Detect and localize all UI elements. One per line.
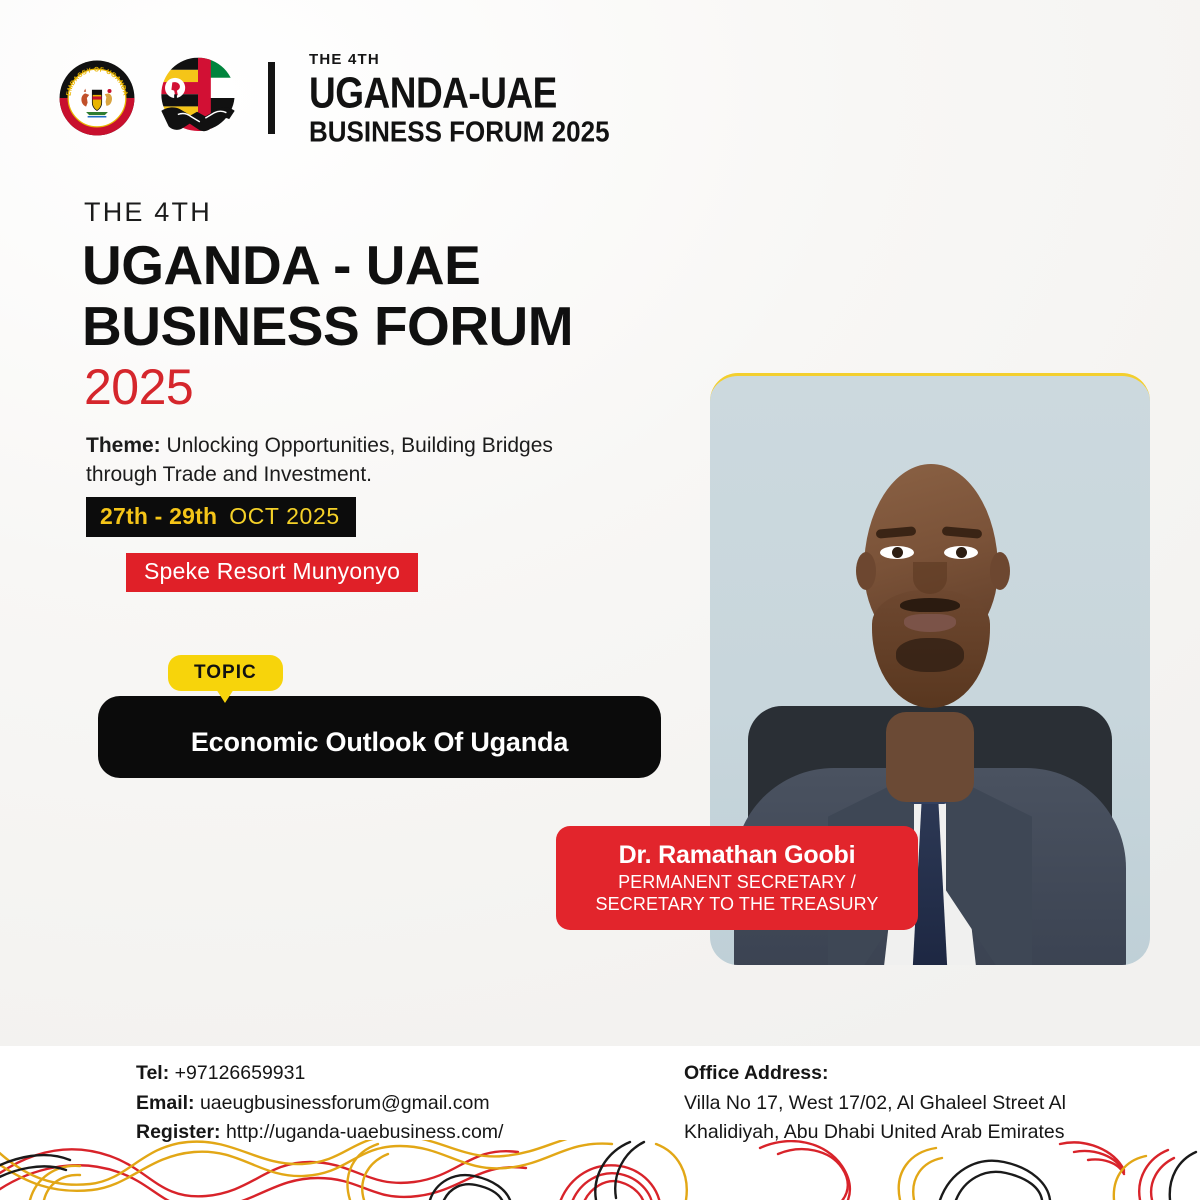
footer-tel-value: +97126659931 (169, 1062, 305, 1084)
date-month: OCT 2025 (229, 503, 340, 529)
portrait-moustache (900, 598, 960, 612)
portrait-ear-left (856, 552, 876, 590)
speaker-nameplate: Dr. Ramathan Goobi PERMANENT SECRETARY /… (556, 826, 918, 930)
footer-address-block: Office Address: Villa No 17, West 17/02,… (684, 1059, 1066, 1148)
speaker-role-line2: SECRETARY TO THE TREASURY (596, 894, 879, 916)
logo-wordmark: THE 4TH UGANDA-UAE BUSINESS FORUM 2025 (309, 52, 610, 143)
theme-text: Theme: Unlocking Opportunities, Building… (86, 432, 556, 490)
logo-the-4th: THE 4TH (309, 52, 610, 67)
hero-eyebrow: THE 4TH (84, 197, 212, 228)
footer-email-value[interactable]: uaeugbusinessforum@gmail.com (195, 1092, 490, 1114)
header-logo-group: EMBASSY OF UGANDA ABU DHABI - UAE (58, 52, 610, 143)
footer-contact-block: Tel: +97126659931 Email: uaeugbusinessfo… (136, 1059, 503, 1148)
logo-uganda-uae: UGANDA-UAE (309, 71, 610, 115)
hero-year: 2025 (84, 358, 193, 416)
date-badge: 27th - 29thOCT 2025 (86, 497, 356, 537)
speaker-name: Dr. Ramathan Goobi (619, 841, 856, 870)
hero-title-line2: BUSINESS FORUM (82, 299, 573, 354)
portrait-chin-beard (896, 638, 964, 672)
portrait-nose (913, 562, 947, 594)
date-range: 27th - 29th (100, 503, 217, 529)
portrait-pupil-left (892, 547, 903, 558)
topic-title: Economic Outlook Of Uganda (191, 717, 568, 758)
poster-canvas: EMBASSY OF UGANDA ABU DHABI - UAE (0, 0, 1200, 1200)
topic-tag-label: TOPIC (168, 655, 283, 691)
footer-address-label: Office Address: (684, 1062, 828, 1084)
logo-divider (268, 62, 275, 134)
footer-address-line1: Villa No 17, West 17/02, Al Ghaleel Stre… (684, 1089, 1066, 1119)
footer-email-label: Email: (136, 1092, 195, 1114)
topographic-contour-pattern (0, 1140, 1200, 1200)
uganda-uae-handshake-icon (152, 54, 244, 142)
theme-label: Theme: (86, 434, 161, 457)
venue-badge: Speke Resort Munyonyo (126, 553, 418, 592)
footer-email-row: Email: uaeugbusinessforum@gmail.com (136, 1089, 503, 1119)
portrait-pupil-right (956, 547, 967, 558)
embassy-of-uganda-seal-icon: EMBASSY OF UGANDA ABU DHABI - UAE (58, 59, 136, 137)
hero-title-line1: UGANDA - UAE (82, 238, 480, 293)
footer-tel-label: Tel: (136, 1062, 169, 1084)
portrait-ear-right (990, 552, 1010, 590)
speaker-role-line1: PERMANENT SECRETARY / (618, 872, 856, 894)
portrait-lips (904, 614, 956, 632)
logo-business-forum: BUSINESS FORUM 2025 (309, 117, 610, 146)
topic-box: Economic Outlook Of Uganda (98, 696, 661, 778)
footer-tel-row: Tel: +97126659931 (136, 1059, 503, 1089)
portrait-neck (886, 712, 974, 802)
